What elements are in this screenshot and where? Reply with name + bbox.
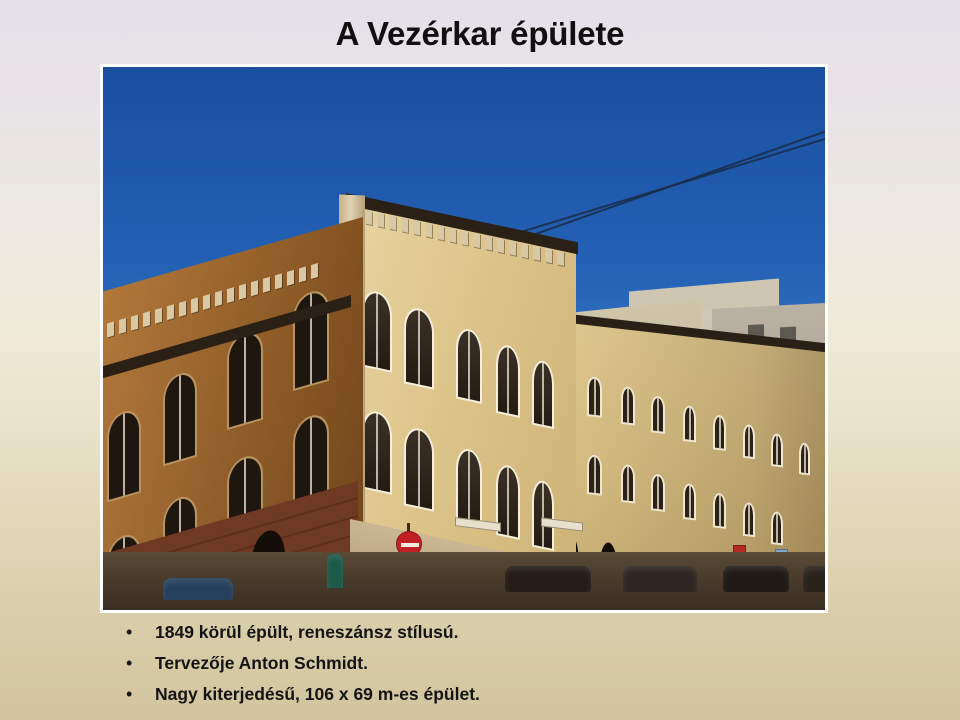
building-photo: BUTIK: [103, 67, 825, 610]
bullet-marker-icon: •: [122, 649, 155, 677]
bullet-text: Tervezője Anton Schmidt.: [155, 649, 368, 677]
parked-car-3: [723, 566, 789, 592]
photo-frame[interactable]: BUTIK: [100, 64, 828, 613]
parked-car-2: [623, 566, 697, 592]
list-item: • Tervezője Anton Schmidt.: [122, 649, 822, 680]
pedestrian: [327, 554, 343, 588]
bullet-text: 1849 körül épült, reneszánsz stílusú.: [155, 618, 458, 646]
parked-car-1: [505, 566, 591, 592]
parked-car-5: [163, 578, 233, 600]
bullet-text: Nagy kiterjedésű, 106 x 69 m-es épület.: [155, 680, 480, 708]
parked-car-4: [803, 566, 825, 592]
list-item: • 1849 körül épült, reneszánsz stílusú.: [122, 618, 822, 649]
slide-canvas: A Vezérkar épülete: [0, 0, 960, 720]
page-title: A Vezérkar épülete: [0, 14, 960, 54]
list-item: • Nagy kiterjedésű, 106 x 69 m-es épület…: [122, 680, 822, 711]
bullet-marker-icon: •: [122, 618, 155, 646]
bullet-list: • 1849 körül épült, reneszánsz stílusú. …: [122, 618, 822, 711]
bullet-marker-icon: •: [122, 680, 155, 708]
